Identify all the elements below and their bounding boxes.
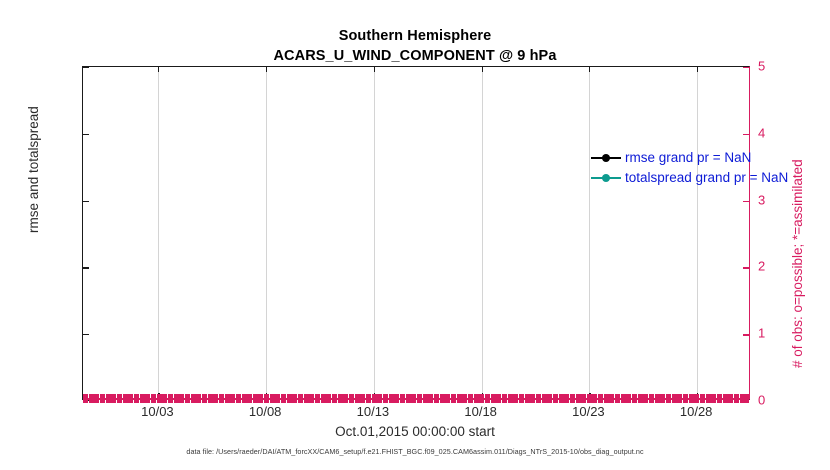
plot-area: rmse grand pr = NaNtotalspread grand pr … bbox=[82, 66, 750, 400]
obs-marker bbox=[151, 394, 156, 403]
obs-marker bbox=[349, 394, 354, 403]
obs-marker bbox=[491, 394, 496, 403]
obs-marker bbox=[400, 394, 405, 403]
y-axis-left-tick bbox=[83, 201, 89, 202]
obs-marker bbox=[587, 394, 592, 403]
obs-marker bbox=[208, 394, 213, 403]
obs-marker bbox=[292, 394, 297, 403]
legend-dot-icon bbox=[602, 174, 610, 182]
y-axis-right-title: # of obs: o=possible; *=assimilated bbox=[790, 159, 805, 368]
gridline-vertical bbox=[158, 67, 159, 399]
y-axis-left-tick bbox=[83, 134, 89, 135]
gridline-vertical bbox=[589, 67, 590, 399]
obs-marker bbox=[706, 394, 711, 403]
obs-marker bbox=[145, 394, 150, 403]
obs-marker bbox=[434, 394, 439, 403]
obs-marker bbox=[632, 394, 637, 403]
gridline-vertical bbox=[266, 67, 267, 399]
x-axis-tick-label: 10/18 bbox=[441, 404, 521, 419]
obs-marker bbox=[581, 394, 586, 403]
obs-marker bbox=[287, 394, 292, 403]
obs-marker bbox=[174, 394, 179, 403]
chart-title-region: Southern Hemisphere bbox=[0, 26, 830, 46]
obs-marker bbox=[128, 394, 133, 403]
obs-marker bbox=[485, 394, 490, 403]
obs-marker bbox=[372, 394, 377, 403]
obs-marker bbox=[264, 394, 269, 403]
obs-marker bbox=[389, 394, 394, 403]
legend-dot-icon bbox=[602, 154, 610, 162]
x-axis-tick-label: 10/28 bbox=[656, 404, 736, 419]
obs-marker bbox=[258, 394, 263, 403]
obs-marker bbox=[519, 394, 524, 403]
obs-marker bbox=[723, 394, 728, 403]
obs-marker bbox=[230, 394, 235, 403]
y-axis-right-tick-label: 0 bbox=[758, 393, 798, 408]
obs-marker bbox=[326, 394, 331, 403]
obs-marker bbox=[225, 394, 230, 403]
obs-marker bbox=[100, 394, 105, 403]
obs-marker bbox=[315, 394, 320, 403]
gridline-vertical bbox=[374, 67, 375, 399]
obs-marker bbox=[711, 394, 716, 403]
obs-marker bbox=[83, 394, 88, 403]
obs-marker bbox=[547, 394, 552, 403]
obs-marker bbox=[479, 394, 484, 403]
obs-marker bbox=[275, 394, 280, 403]
obs-marker bbox=[740, 394, 745, 403]
obs-marker bbox=[496, 394, 501, 403]
obs-marker bbox=[621, 394, 626, 403]
obs-marker bbox=[355, 394, 360, 403]
obs-marker bbox=[576, 394, 581, 403]
obs-marker bbox=[672, 394, 677, 403]
legend-label: rmse grand pr = NaN bbox=[625, 150, 751, 165]
obs-marker bbox=[728, 394, 733, 403]
obs-marker bbox=[508, 394, 513, 403]
obs-marker bbox=[360, 394, 365, 403]
obs-marker bbox=[655, 394, 660, 403]
obs-marker bbox=[309, 394, 314, 403]
obs-marker bbox=[236, 394, 241, 403]
obs-marker bbox=[394, 394, 399, 403]
x-axis-title: Oct.01,2015 00:00:00 start bbox=[0, 424, 830, 439]
obs-marker bbox=[734, 394, 739, 403]
obs-marker bbox=[700, 394, 705, 403]
y-axis-right-tick bbox=[743, 134, 749, 135]
obs-marker bbox=[536, 394, 541, 403]
obs-marker bbox=[196, 394, 201, 403]
x-axis-tick-label: 10/08 bbox=[225, 404, 305, 419]
obs-marker bbox=[542, 394, 547, 403]
obs-marker bbox=[428, 394, 433, 403]
obs-marker bbox=[123, 394, 128, 403]
obs-marker bbox=[343, 394, 348, 403]
obs-marker bbox=[525, 394, 530, 403]
y-axis-right-tick-label: 5 bbox=[758, 59, 798, 74]
obs-marker bbox=[598, 394, 603, 403]
obs-marker bbox=[451, 394, 456, 403]
obs-marker bbox=[338, 394, 343, 403]
obs-marker bbox=[570, 394, 575, 403]
obs-marker bbox=[423, 394, 428, 403]
obs-marker bbox=[377, 394, 382, 403]
chart-title-block: Southern Hemisphere ACARS_U_WIND_COMPONE… bbox=[0, 26, 830, 66]
obs-marker bbox=[157, 394, 162, 403]
y-axis-right-tick-label: 4 bbox=[758, 125, 798, 140]
obs-marker bbox=[559, 394, 564, 403]
obs-marker bbox=[117, 394, 122, 403]
obs-marker bbox=[638, 394, 643, 403]
obs-marker bbox=[270, 394, 275, 403]
legend-item[interactable]: totalspread grand pr = NaN bbox=[591, 169, 788, 186]
obs-marker bbox=[462, 394, 467, 403]
x-axis-tick-top bbox=[374, 67, 375, 72]
obs-marker bbox=[513, 394, 518, 403]
data-file-caption: data file: /Users/raeder/DAI/ATM_forcXX/… bbox=[0, 447, 830, 456]
obs-marker bbox=[253, 394, 258, 403]
obs-marker bbox=[564, 394, 569, 403]
obs-marker bbox=[457, 394, 462, 403]
x-axis-tick-label: 10/13 bbox=[333, 404, 413, 419]
obs-marker bbox=[106, 394, 111, 403]
obs-marker bbox=[530, 394, 535, 403]
obs-marker bbox=[677, 394, 682, 403]
obs-marker bbox=[185, 394, 190, 403]
gridline-vertical bbox=[697, 67, 698, 399]
x-axis-tick-top bbox=[589, 67, 590, 72]
legend: rmse grand pr = NaNtotalspread grand pr … bbox=[591, 149, 788, 186]
obs-marker bbox=[592, 394, 597, 403]
obs-marker bbox=[666, 394, 671, 403]
x-axis-tick-label: 10/23 bbox=[548, 404, 628, 419]
obs-marker bbox=[247, 394, 252, 403]
x-axis-tick-top bbox=[266, 67, 267, 72]
y-axis-left-tick bbox=[83, 334, 89, 335]
obs-marker bbox=[321, 394, 326, 403]
y-axis-right-tick bbox=[743, 67, 749, 68]
y-axis-left-tick bbox=[83, 67, 89, 68]
obs-marker bbox=[111, 394, 116, 403]
legend-item[interactable]: rmse grand pr = NaN bbox=[591, 149, 788, 166]
obs-marker bbox=[417, 394, 422, 403]
obs-marker bbox=[213, 394, 218, 403]
obs-marker bbox=[219, 394, 224, 403]
obs-marker bbox=[332, 394, 337, 403]
obs-marker bbox=[89, 394, 94, 403]
obs-marker bbox=[94, 394, 99, 403]
obs-marker bbox=[134, 394, 139, 403]
obs-marker bbox=[643, 394, 648, 403]
obs-marker bbox=[298, 394, 303, 403]
obs-marker bbox=[745, 394, 749, 403]
x-axis-tick-top bbox=[697, 67, 698, 72]
obs-marker bbox=[440, 394, 445, 403]
gridline-vertical bbox=[482, 67, 483, 399]
obs-marker bbox=[502, 394, 507, 403]
figure-canvas: Southern Hemisphere ACARS_U_WIND_COMPONE… bbox=[0, 0, 830, 470]
y-axis-left-tick bbox=[83, 267, 89, 268]
obs-marker bbox=[140, 394, 145, 403]
obs-marker bbox=[242, 394, 247, 403]
obs-marker bbox=[445, 394, 450, 403]
obs-marker bbox=[615, 394, 620, 403]
obs-marker bbox=[694, 394, 699, 403]
obs-marker bbox=[660, 394, 665, 403]
y-axis-left-title: rmse and totalspread bbox=[26, 106, 41, 233]
obs-marker bbox=[366, 394, 371, 403]
obs-marker bbox=[191, 394, 196, 403]
x-axis-tick-top bbox=[158, 67, 159, 72]
obs-marker bbox=[162, 394, 167, 403]
obs-marker bbox=[553, 394, 558, 403]
obs-marker bbox=[304, 394, 309, 403]
x-axis-tick-label: 10/03 bbox=[117, 404, 197, 419]
obs-marker bbox=[717, 394, 722, 403]
legend-marker-icon bbox=[591, 172, 621, 184]
obs-marker bbox=[474, 394, 479, 403]
obs-marker bbox=[689, 394, 694, 403]
x-axis-tick-top bbox=[482, 67, 483, 72]
obs-marker bbox=[383, 394, 388, 403]
obs-marker bbox=[468, 394, 473, 403]
obs-marker bbox=[179, 394, 184, 403]
y-axis-right-tick bbox=[743, 201, 749, 202]
obs-count-marker-band bbox=[83, 394, 749, 403]
obs-marker bbox=[281, 394, 286, 403]
obs-marker bbox=[604, 394, 609, 403]
obs-marker bbox=[609, 394, 614, 403]
obs-marker bbox=[202, 394, 207, 403]
obs-marker bbox=[168, 394, 173, 403]
obs-marker bbox=[406, 394, 411, 403]
obs-marker bbox=[649, 394, 654, 403]
obs-marker bbox=[683, 394, 688, 403]
chart-title-variable: ACARS_U_WIND_COMPONENT @ 9 hPa bbox=[0, 46, 830, 66]
obs-marker bbox=[626, 394, 631, 403]
y-axis-right-tick bbox=[743, 267, 749, 268]
obs-marker bbox=[411, 394, 416, 403]
y-axis-right-tick bbox=[743, 334, 749, 335]
legend-label: totalspread grand pr = NaN bbox=[625, 170, 788, 185]
legend-marker-icon bbox=[591, 152, 621, 164]
